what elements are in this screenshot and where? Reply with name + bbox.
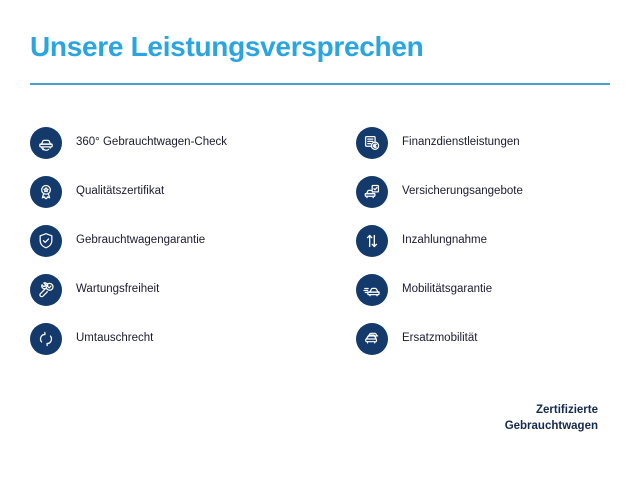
list-item-label: Qualitätszertifikat <box>76 185 164 199</box>
list-item-label: Umtauschrecht <box>76 332 153 346</box>
promise-column-left: 360° Gebrauchtwagen-Check Qualitätszerti… <box>30 118 330 363</box>
slide-root: Unsere Leistungsversprechen 360° Gebrauc… <box>0 0 640 480</box>
certified-used-cars-badge: Zertifizierte Gebrauchtwagen <box>505 403 598 434</box>
list-item-label: Gebrauchtwagengarantie <box>76 234 205 248</box>
list-item[interactable]: Umtauschrecht <box>30 314 330 363</box>
exchange-arrows-icon <box>30 323 62 355</box>
list-item-label: Finanzdienstleistungen <box>402 136 520 150</box>
list-item[interactable]: Finanzdienstleistungen <box>356 118 636 167</box>
list-item[interactable]: 360° Gebrauchtwagen-Check <box>30 118 330 167</box>
list-item-label: Wartungsfreiheit <box>76 283 159 297</box>
shield-check-icon <box>30 225 62 257</box>
list-item[interactable]: Qualitätszertifikat <box>30 167 330 216</box>
list-item-label: 360° Gebrauchtwagen-Check <box>76 136 227 150</box>
promise-column-right: Finanzdienstleistungen Versicherungsange… <box>356 118 636 363</box>
award-rosette-icon <box>30 176 62 208</box>
list-item[interactable]: Wartungsfreiheit <box>30 265 330 314</box>
promise-columns: 360° Gebrauchtwagen-Check Qualitätszerti… <box>0 118 640 363</box>
coins-euro-icon <box>356 127 388 159</box>
footer-line-2: Gebrauchtwagen <box>505 419 598 435</box>
car-document-icon <box>356 176 388 208</box>
car-motion-icon <box>356 274 388 306</box>
list-item[interactable]: Mobilitätsgarantie <box>356 265 636 314</box>
list-item-label: Versicherungsangebote <box>402 185 523 199</box>
car-360-check-icon <box>30 127 62 159</box>
up-down-arrows-icon <box>356 225 388 257</box>
list-item-label: Inzahlungnahme <box>402 234 487 248</box>
wrench-check-icon <box>30 274 62 306</box>
list-item-label: Ersatzmobilität <box>402 332 477 346</box>
list-item[interactable]: Ersatzmobilität <box>356 314 636 363</box>
page-title: Unsere Leistungsversprechen <box>30 32 423 63</box>
list-item[interactable]: Gebrauchtwagengarantie <box>30 216 330 265</box>
list-item[interactable]: Inzahlungnahme <box>356 216 636 265</box>
title-divider <box>30 83 610 85</box>
two-cars-icon <box>356 323 388 355</box>
list-item[interactable]: Versicherungsangebote <box>356 167 636 216</box>
footer-line-1: Zertifizierte <box>505 403 598 419</box>
list-item-label: Mobilitätsgarantie <box>402 283 492 297</box>
